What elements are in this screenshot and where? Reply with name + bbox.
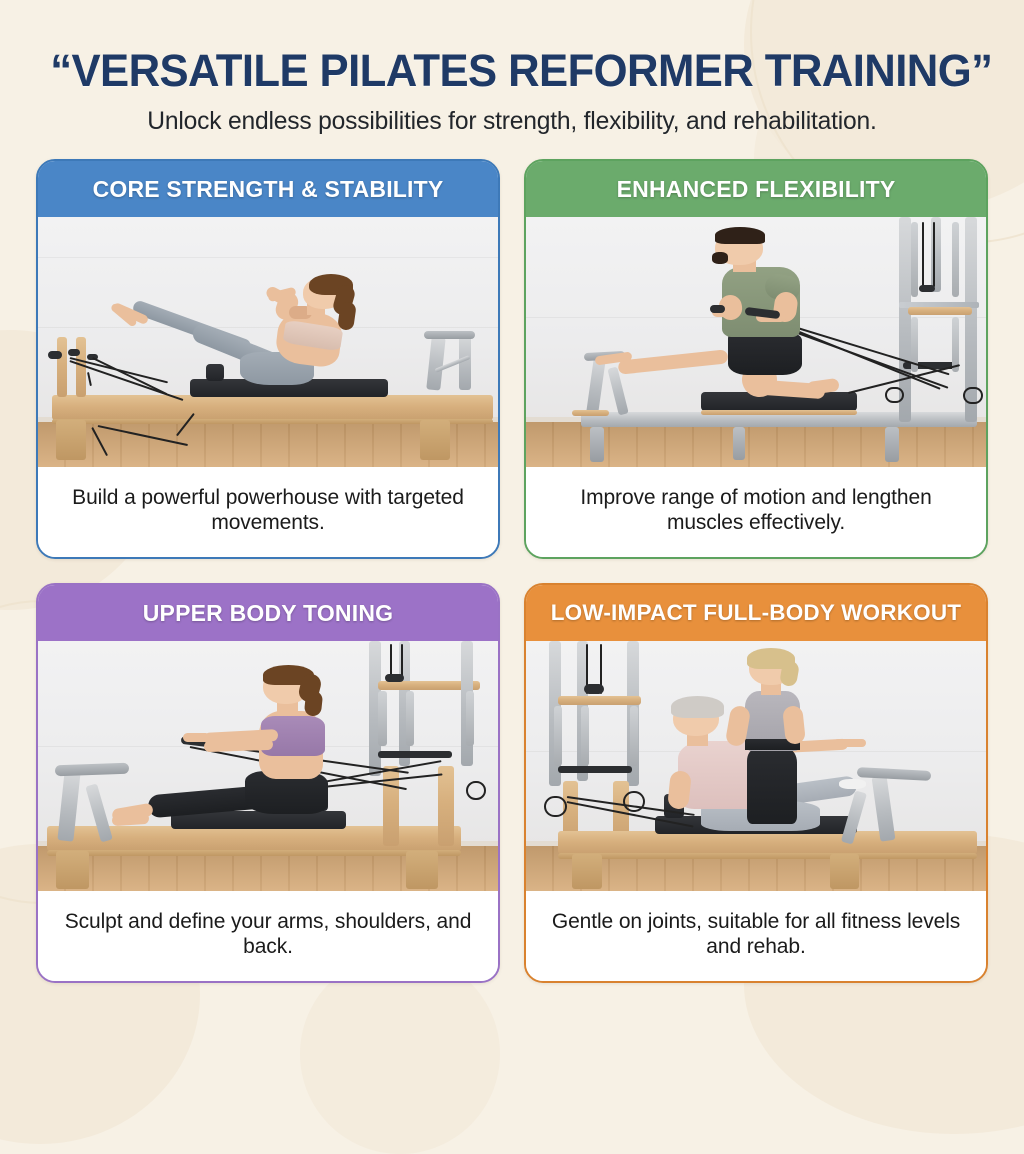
header: “VERSATILE PILATES REFORMER TRAINING” Un… <box>36 0 988 135</box>
card-photo-core-strength-stability <box>38 217 498 467</box>
card-photo-enhanced-flexibility <box>526 217 986 467</box>
card-caption-upper-body-toning: Sculpt and define your arms, shoulders, … <box>38 891 498 981</box>
card-caption-enhanced-flexibility: Improve range of motion and lengthen mus… <box>526 467 986 557</box>
card-low-impact-full-body-workout[interactable]: LOW-IMPACT FULL-BODY WORKOUT <box>524 583 988 983</box>
card-header-enhanced-flexibility: ENHANCED FLEXIBILITY <box>526 161 986 217</box>
card-caption-low-impact-full-body-workout: Gentle on joints, suitable for all fitne… <box>526 891 986 981</box>
card-core-strength-stability[interactable]: CORE STRENGTH & STABILITY <box>36 159 500 559</box>
card-upper-body-toning[interactable]: UPPER BODY TONING <box>36 583 500 983</box>
card-enhanced-flexibility[interactable]: ENHANCED FLEXIBILITY <box>524 159 988 559</box>
card-caption-core-strength-stability: Build a powerful powerhouse with targete… <box>38 467 498 557</box>
infographic-page: “VERSATILE PILATES REFORMER TRAINING” Un… <box>0 0 1024 1024</box>
card-photo-upper-body-toning <box>38 641 498 891</box>
card-header-core-strength-stability: CORE STRENGTH & STABILITY <box>38 161 498 217</box>
page-title: “VERSATILE PILATES REFORMER TRAINING” <box>50 48 973 94</box>
benefit-card-grid: CORE STRENGTH & STABILITY <box>36 159 988 983</box>
card-photo-low-impact-full-body-workout <box>526 641 986 891</box>
page-subtitle: Unlock endless possibilities for strengt… <box>43 108 981 136</box>
card-header-upper-body-toning: UPPER BODY TONING <box>38 585 498 641</box>
card-header-low-impact-full-body-workout: LOW-IMPACT FULL-BODY WORKOUT <box>526 585 986 641</box>
